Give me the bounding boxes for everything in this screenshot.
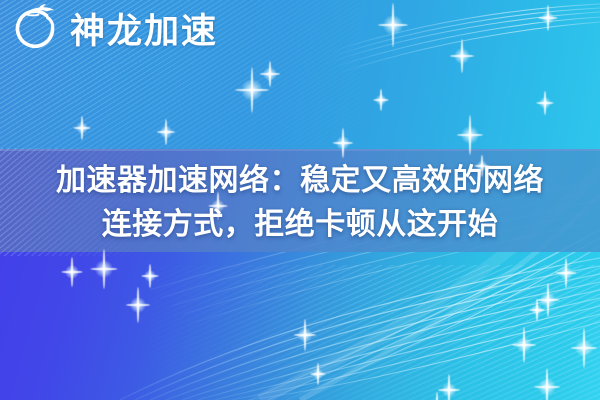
headline-line-2: 连接方式，拒绝卡顿从这开始: [12, 204, 588, 246]
ray-hatch-bottom-center: [150, 265, 600, 400]
brand-logo: 神龙加速: [6, 2, 218, 60]
brand-name: 神龙加速: [70, 14, 218, 49]
promo-banner: 神龙加速 加速器加速网络：稳定又高效的网络 连接方式，拒绝卡顿从这开始: [0, 0, 600, 400]
headline-line-1: 加速器加速网络：稳定又高效的网络: [12, 160, 588, 202]
dragon-ring-icon: [6, 2, 64, 60]
headline: 加速器加速网络：稳定又高效的网络 连接方式，拒绝卡顿从这开始: [0, 160, 600, 246]
